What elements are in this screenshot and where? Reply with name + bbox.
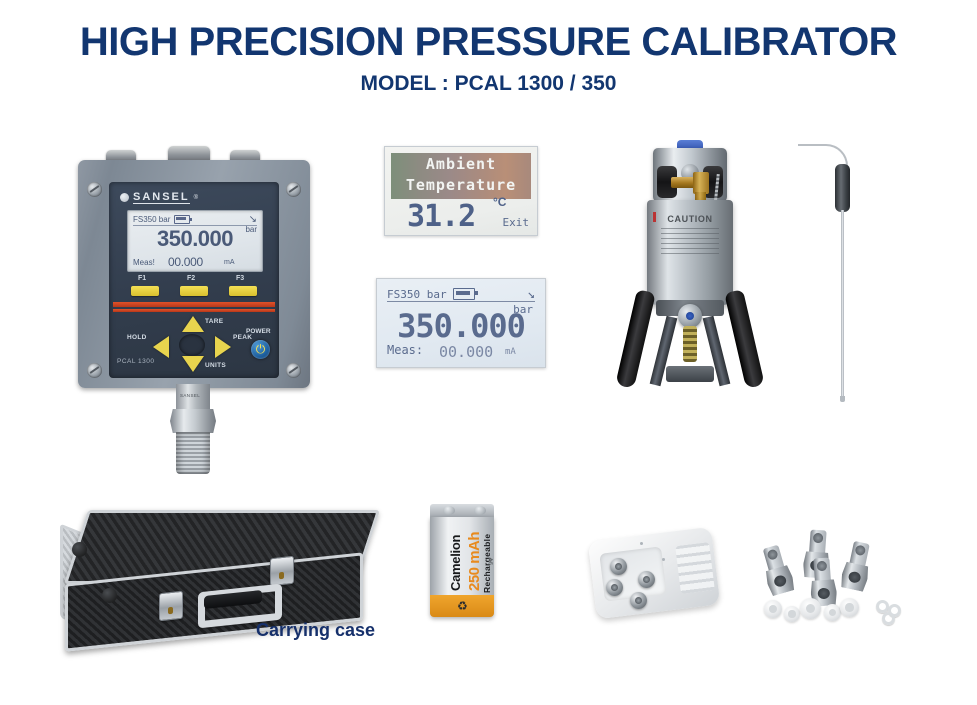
function-button-label-f1: F1 — [138, 275, 146, 282]
signal-icon: ↘ — [249, 214, 257, 225]
calibrator-lcd-screen: FS350 bar ↘ 350.000 bar Meas! 00.000 mA — [127, 210, 263, 272]
lcd-range-label: FS350 bar — [133, 215, 170, 224]
lcd-primary-unit: bar — [245, 225, 257, 234]
dpad-down-button[interactable] — [182, 356, 204, 372]
battery-voltage: 9V — [489, 558, 494, 565]
keyhole-icon — [168, 607, 173, 615]
calibrator-faceplate: SANSEL ® FS350 bar ↘ 350.000 bar Meas! 0… — [109, 182, 279, 378]
case-corner-icon — [102, 588, 117, 603]
lcd-meas-label: Meas! — [133, 258, 155, 267]
lcd-temp-header-band: Ambient Temperature — [391, 153, 531, 199]
battery-terminal-icon — [474, 506, 486, 515]
lcd-pressure-meas-unit: mA — [505, 347, 516, 357]
charger-contact-icon — [638, 571, 655, 588]
lcd-temp-value: 31.2 — [407, 199, 475, 234]
fitting-brand-label: SANSEL — [180, 393, 200, 398]
dpad-up-button[interactable] — [182, 316, 204, 332]
calibrator-model-label: PCAL 1300 — [117, 358, 155, 365]
lcd-temp-line1: Ambient — [391, 155, 531, 173]
dpad-label-units: UNITS — [205, 362, 226, 369]
power-button-label: POWER — [246, 328, 271, 335]
adapter-fitting — [839, 540, 874, 592]
pressure-connection-fitting: SANSEL — [170, 384, 216, 474]
function-button-row: F1 F2 F3 — [127, 275, 261, 297]
case-corner-icon — [72, 542, 87, 557]
pump-handle-right[interactable] — [724, 289, 765, 389]
lcd-screen-ambient-temperature: Ambient Temperature 31.2 °C Exit — [384, 146, 538, 236]
lcd-primary-value: 350.000 — [132, 226, 258, 252]
pump-handle-left[interactable] — [615, 289, 656, 389]
function-button-f3[interactable] — [229, 286, 257, 296]
ptfe-washer-icon — [840, 598, 859, 617]
dpad-center[interactable] — [179, 334, 205, 356]
dpad-label-peak: PEAK — [233, 334, 252, 341]
function-button-label-f2: F2 — [187, 275, 195, 282]
case-latch-left[interactable] — [159, 591, 183, 622]
temperature-probe — [790, 140, 870, 402]
signal-icon: ↘ — [527, 287, 535, 302]
battery-capacity: 250 mAh — [466, 532, 483, 591]
lcd-temp-unit: °C — [493, 195, 506, 209]
power-button[interactable]: ⏻ — [251, 340, 270, 359]
lcd-pressure-meas-label: Meas: — [387, 343, 423, 357]
pressure-adapter-fittings — [758, 522, 918, 634]
lcd-screen-pressure-reading: FS350 bar ↘ 350.000 bar Meas: 00.000 mA — [376, 278, 546, 368]
dpad-label-hold: HOLD — [127, 334, 147, 341]
dpad-label-tare: TARE — [205, 318, 223, 325]
function-button-f1[interactable] — [131, 286, 159, 296]
lcd-pressure-status-bar: FS350 bar ↘ — [387, 287, 535, 302]
lcd-meas-unit: mA — [224, 259, 235, 266]
screw-icon — [87, 363, 102, 378]
rechargeable-battery: Camelion 250 mAh Rechargeable 9V ♻ — [424, 504, 502, 630]
case-latch-right[interactable] — [270, 556, 294, 587]
battery-bottom-band: ♻ — [430, 595, 494, 617]
pump-base — [666, 366, 714, 382]
navigation-dpad: TARE HOLD PEAK UNITS — [153, 316, 231, 372]
pump-spring-icon — [683, 326, 697, 362]
ptfe-washer-icon — [824, 604, 841, 621]
battery-label: Camelion 250 mAh Rechargeable 9V — [430, 531, 494, 595]
pump-pivot-screw-icon — [678, 304, 702, 328]
battery-body: Camelion 250 mAh Rechargeable 9V ♻ — [430, 517, 494, 617]
lcd-status-bar: FS350 bar ↘ — [133, 214, 257, 226]
probe-handle — [835, 164, 850, 212]
pressure-calibrator-unit: SANSEL ® FS350 bar ↘ 350.000 bar Meas! 0… — [78, 148, 310, 388]
fitting-thread — [176, 432, 210, 474]
dpad-left-button[interactable] — [153, 336, 169, 358]
lcd-pressure-unit: bar — [513, 303, 533, 316]
probe-rod — [841, 210, 844, 400]
function-button-f2[interactable] — [180, 286, 208, 296]
dpad-right-button[interactable] — [215, 336, 231, 358]
pump-cylinder: CAUTION — [647, 200, 733, 305]
charger-vent-slots — [675, 542, 715, 594]
function-button-label-f3: F3 — [236, 275, 244, 282]
screw-icon — [286, 363, 301, 378]
lcd-temp-exit-label: Exit — [503, 216, 530, 229]
screw-icon — [87, 182, 102, 197]
battery-terminal-icon — [443, 506, 455, 515]
hydraulic-hand-pump: CAUTION — [600, 140, 780, 398]
charger-contact-icon — [610, 558, 627, 575]
adapter-hex-nut — [839, 561, 870, 592]
pump-head — [653, 148, 727, 202]
ptfe-washer-icon — [784, 606, 800, 622]
pump-brass-block — [693, 172, 709, 194]
charger-contact-icon — [630, 592, 647, 609]
registered-trademark-icon: ® — [194, 195, 198, 201]
adapter-fitting — [758, 543, 796, 596]
probe-tip-icon — [840, 396, 845, 402]
ptfe-washer-icon — [764, 600, 782, 618]
red-stripe-divider — [113, 309, 275, 312]
red-stripe-divider — [113, 302, 275, 307]
brand-mark-icon — [120, 193, 129, 202]
recycle-crossed-bin-icon: ♻ — [457, 599, 468, 613]
calibrator-housing: SANSEL ® FS350 bar ↘ 350.000 bar Meas! 0… — [78, 160, 310, 388]
brand-name: SANSEL — [133, 191, 190, 204]
battery-full-icon — [174, 215, 190, 224]
lcd-meas-value: 00.000 — [168, 255, 203, 269]
metal-ring-icon — [882, 612, 895, 625]
battery-brand: Camelion — [448, 535, 463, 591]
battery-top-cap — [430, 504, 494, 518]
lcd-pressure-range: FS350 bar — [387, 288, 447, 301]
ptfe-washer-icon — [800, 598, 821, 619]
lcd-temp-line2: Temperature — [391, 176, 531, 194]
fitting-collar: SANSEL — [176, 384, 210, 410]
battery-charger — [586, 528, 726, 628]
screw-icon — [286, 182, 301, 197]
page-subtitle: MODEL : PCAL 1300 / 350 — [0, 72, 977, 96]
page-title: HIGH PRECISION PRESSURE CALIBRATOR — [0, 20, 977, 65]
keyhole-icon — [279, 572, 284, 580]
lcd-pressure-meas-value: 00.000 — [439, 343, 493, 361]
pump-caution-label: CAUTION — [647, 214, 733, 224]
fitting-hex-nut — [170, 409, 216, 433]
battery-full-icon — [453, 288, 475, 300]
charger-contact-icon — [606, 579, 623, 596]
power-icon: ⏻ — [256, 342, 266, 357]
pump-caution-fineprint — [661, 228, 719, 254]
charger-screw-dot-icon — [640, 542, 643, 545]
brand-logo: SANSEL ® — [120, 191, 198, 204]
charger-screw-dot-icon — [662, 558, 665, 561]
